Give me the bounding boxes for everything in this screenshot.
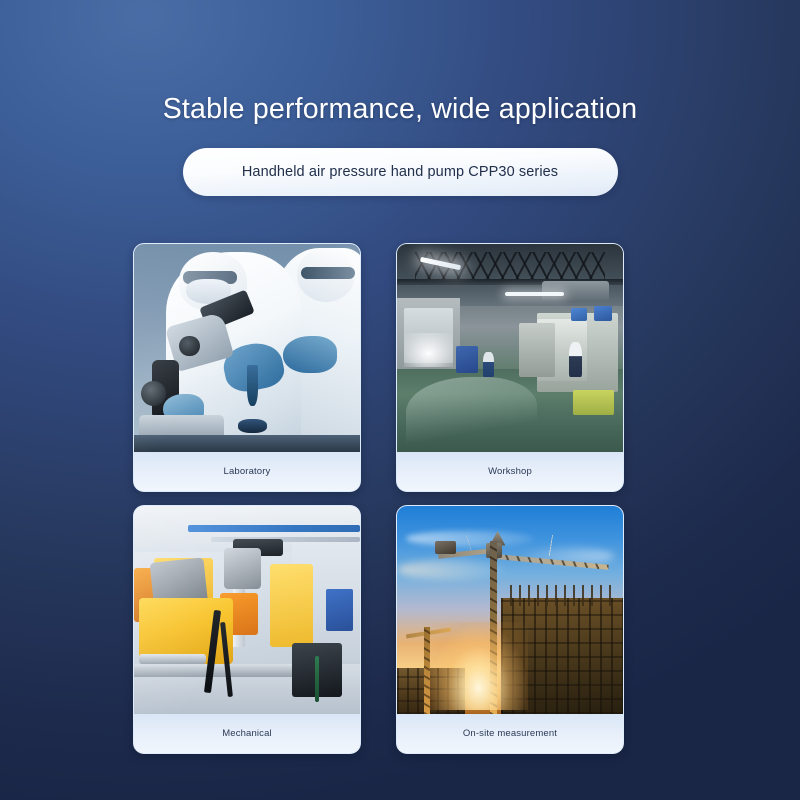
- site-rebar: [510, 585, 618, 606]
- laboratory-photo: [134, 244, 360, 452]
- workshop-worker-1: [569, 342, 583, 377]
- product-pill-wrap: Handheld air pressure hand pump CPP30 se…: [0, 148, 800, 196]
- mechanical-photo: [134, 506, 360, 714]
- page-title: Stable performance, wide application: [0, 92, 800, 126]
- card-caption-text: Laboratory: [224, 466, 271, 477]
- site-sun-glow: [429, 622, 528, 709]
- workshop-worker-2: [483, 352, 494, 377]
- workshop-hanging-bin-2: [571, 308, 587, 320]
- product-name-pill[interactable]: Handheld air pressure hand pump CPP30 se…: [183, 148, 618, 196]
- workshop-green-crate: [573, 390, 614, 415]
- workshop-blue-bin: [456, 346, 479, 373]
- application-card-on-site-measurement[interactable]: On-site measurement: [396, 505, 624, 754]
- on-site-measurement-photo: [397, 506, 623, 714]
- workshop-assembly-line-3: [519, 323, 555, 377]
- application-card-mechanical[interactable]: Mechanical: [133, 505, 361, 754]
- workshop-photo: [397, 244, 623, 452]
- application-card-laboratory[interactable]: Laboratory: [133, 243, 361, 492]
- workshop-hanging-bin-1: [594, 306, 612, 321]
- card-caption-text: Workshop: [488, 466, 532, 477]
- application-card-workshop[interactable]: Workshop: [396, 243, 624, 492]
- card-caption-text: Mechanical: [222, 728, 272, 739]
- site-crane-front-cable: [499, 535, 603, 556]
- card-caption-laboratory: Laboratory: [134, 452, 360, 491]
- mech-light-sheen: [134, 506, 360, 714]
- card-caption-text: On-site measurement: [463, 728, 557, 739]
- card-caption-mechanical: Mechanical: [134, 714, 360, 753]
- application-card-grid: Laboratory Workshop: [133, 243, 624, 754]
- workshop-floor-reflection: [406, 377, 537, 448]
- site-crane-counterweight: [435, 541, 455, 553]
- product-name-label: Handheld air pressure hand pump CPP30 se…: [242, 164, 558, 180]
- workshop-doorway-glow: [404, 333, 454, 366]
- card-caption-workshop: Workshop: [397, 452, 623, 491]
- hero-section: Stable performance, wide application Han…: [0, 0, 800, 196]
- card-caption-on-site-measurement: On-site measurement: [397, 714, 623, 753]
- workshop-ceiling-lamp-2: [505, 292, 564, 296]
- lab-light-sheen: [134, 244, 360, 452]
